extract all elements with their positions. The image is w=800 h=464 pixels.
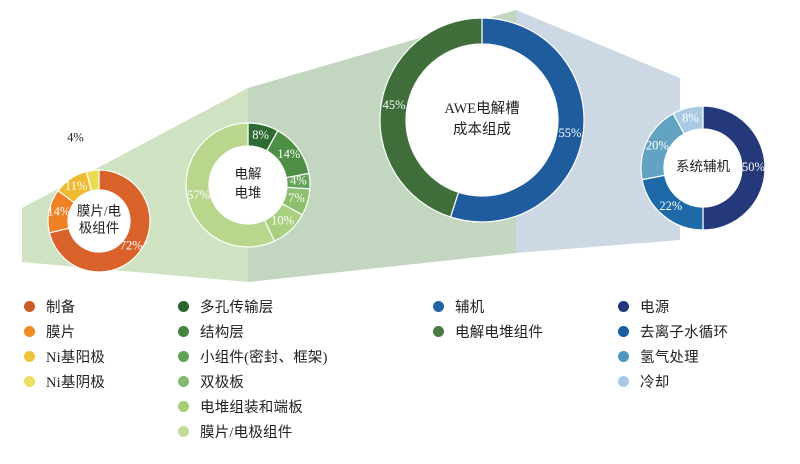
legend-item[interactable]: 结构层 <box>178 319 328 344</box>
legend-item-label: 辅机 <box>455 296 484 317</box>
legend-swatch-icon <box>178 301 189 312</box>
legend-column-mea: 制备膜片Ni基阳极Ni基阴极 <box>24 294 105 394</box>
donut-center-title: 成本组成 <box>453 121 511 138</box>
donut-center-title: 膜片/电 <box>77 204 121 219</box>
donut-electrolysis-stack[interactable]: 8%14%4%7%10%57%电解电堆 <box>186 123 310 247</box>
legend-item-label: 多孔传输层 <box>200 296 274 317</box>
legend-item-label: 电堆组装和端板 <box>200 396 303 417</box>
legend-swatch-icon <box>24 351 35 362</box>
slice-value-label: 55% <box>558 126 581 140</box>
donut-center-title: 电堆 <box>235 186 262 201</box>
legend-item-label: 制备 <box>46 296 75 317</box>
donut-membrane-electrode-assembly[interactable]: 72%14%11%4%膜片/电极组件 <box>47 130 150 272</box>
legend-item[interactable]: 多孔传输层 <box>178 294 328 319</box>
legend-swatch-icon <box>24 326 35 337</box>
legend-swatch-icon <box>178 326 189 337</box>
legend-swatch-icon <box>618 376 629 387</box>
donut-center-title: 极组件 <box>79 221 120 236</box>
legend-swatch-icon <box>178 426 189 437</box>
legend-item-label: 电源 <box>640 296 669 317</box>
legend-item[interactable]: 电堆组装和端板 <box>178 394 328 419</box>
legend-item[interactable]: 电解电堆组件 <box>433 319 543 344</box>
donut-awe-electrolyzer-cost[interactable]: 55%45%AWE电解槽成本组成 <box>380 18 584 222</box>
legend-swatch-icon <box>178 401 189 412</box>
slice-value-label: 10% <box>271 214 294 228</box>
legend-item-label: 双极板 <box>200 371 244 392</box>
slice-value-label: 11% <box>65 179 87 193</box>
legend-item[interactable]: 辅机 <box>433 294 543 319</box>
legend-item-label: 去离子水循环 <box>640 321 728 342</box>
slice-value-label: 14% <box>47 205 70 219</box>
legend-column-stack: 多孔传输层结构层小组件(密封、框架)双极板电堆组装和端板膜片/电极组件 <box>178 294 328 444</box>
legend-swatch-icon <box>178 351 189 362</box>
legend-item-label: 电解电堆组件 <box>455 321 543 342</box>
slice-value-label: 8% <box>682 111 699 125</box>
legend-swatch-icon <box>618 326 629 337</box>
donut-center-title: AWE电解槽 <box>444 100 519 117</box>
legend-swatch-icon <box>433 326 444 337</box>
legend-item-label: 结构层 <box>200 321 244 342</box>
legend-swatch-icon <box>24 301 35 312</box>
legend-item-label: 膜片 <box>46 321 75 342</box>
slice-value-label: 50% <box>742 160 765 174</box>
legend-item[interactable]: Ni基阴极 <box>24 369 105 394</box>
slice-value-label: 4% <box>67 130 84 144</box>
legend-item[interactable]: 膜片/电极组件 <box>178 419 328 444</box>
legend-item[interactable]: 氢气处理 <box>618 344 728 369</box>
legend-swatch-icon <box>24 376 35 387</box>
legend-item-label: Ni基阳极 <box>46 346 105 367</box>
legend-swatch-icon <box>433 301 444 312</box>
legend-item-label: 氢气处理 <box>640 346 699 367</box>
slice-value-label: 14% <box>277 147 300 161</box>
slice-value-label: 57% <box>187 188 210 202</box>
legend-item[interactable]: 小组件(密封、框架) <box>178 344 328 369</box>
donut-layer: 72%14%11%4%膜片/电极组件 8%14%4%7%10%57%电解电堆 5… <box>0 0 800 464</box>
slice-value-label: 45% <box>383 98 406 112</box>
legend-item[interactable]: 电源 <box>618 294 728 319</box>
donut-hole <box>407 45 558 196</box>
legend-swatch-icon <box>178 376 189 387</box>
donut-system-auxiliary[interactable]: 50%22%20%8%系统辅机 <box>641 106 765 230</box>
legend-item-label: Ni基阴极 <box>46 371 105 392</box>
slice-value-label: 4% <box>290 174 307 188</box>
slice-value-label: 72% <box>120 238 143 252</box>
legend-column-aux: 电源去离子水循环氢气处理冷却 <box>618 294 728 394</box>
legend-item-label: 膜片/电极组件 <box>200 421 292 442</box>
donut-center-title: 系统辅机 <box>676 159 730 174</box>
legend-item[interactable]: 冷却 <box>618 369 728 394</box>
slice-value-label: 22% <box>659 199 682 213</box>
legend-item[interactable]: 去离子水循环 <box>618 319 728 344</box>
legend-column-awe: 辅机电解电堆组件 <box>433 294 543 344</box>
slice-value-label: 8% <box>252 128 269 142</box>
legend-item-label: 冷却 <box>640 371 669 392</box>
slice-value-label: 7% <box>288 191 305 205</box>
legend-item-label: 小组件(密封、框架) <box>200 346 328 367</box>
legend-item[interactable]: 膜片 <box>24 319 105 344</box>
legend-swatch-icon <box>618 301 629 312</box>
legend-item[interactable]: 双极板 <box>178 369 328 394</box>
donut-center-title: 电解 <box>235 167 262 182</box>
chart-canvas: 72%14%11%4%膜片/电极组件 8%14%4%7%10%57%电解电堆 5… <box>0 0 800 464</box>
slice-value-label: 20% <box>646 138 669 152</box>
legend-item[interactable]: 制备 <box>24 294 105 319</box>
legend-item[interactable]: Ni基阳极 <box>24 344 105 369</box>
legend-swatch-icon <box>618 351 629 362</box>
